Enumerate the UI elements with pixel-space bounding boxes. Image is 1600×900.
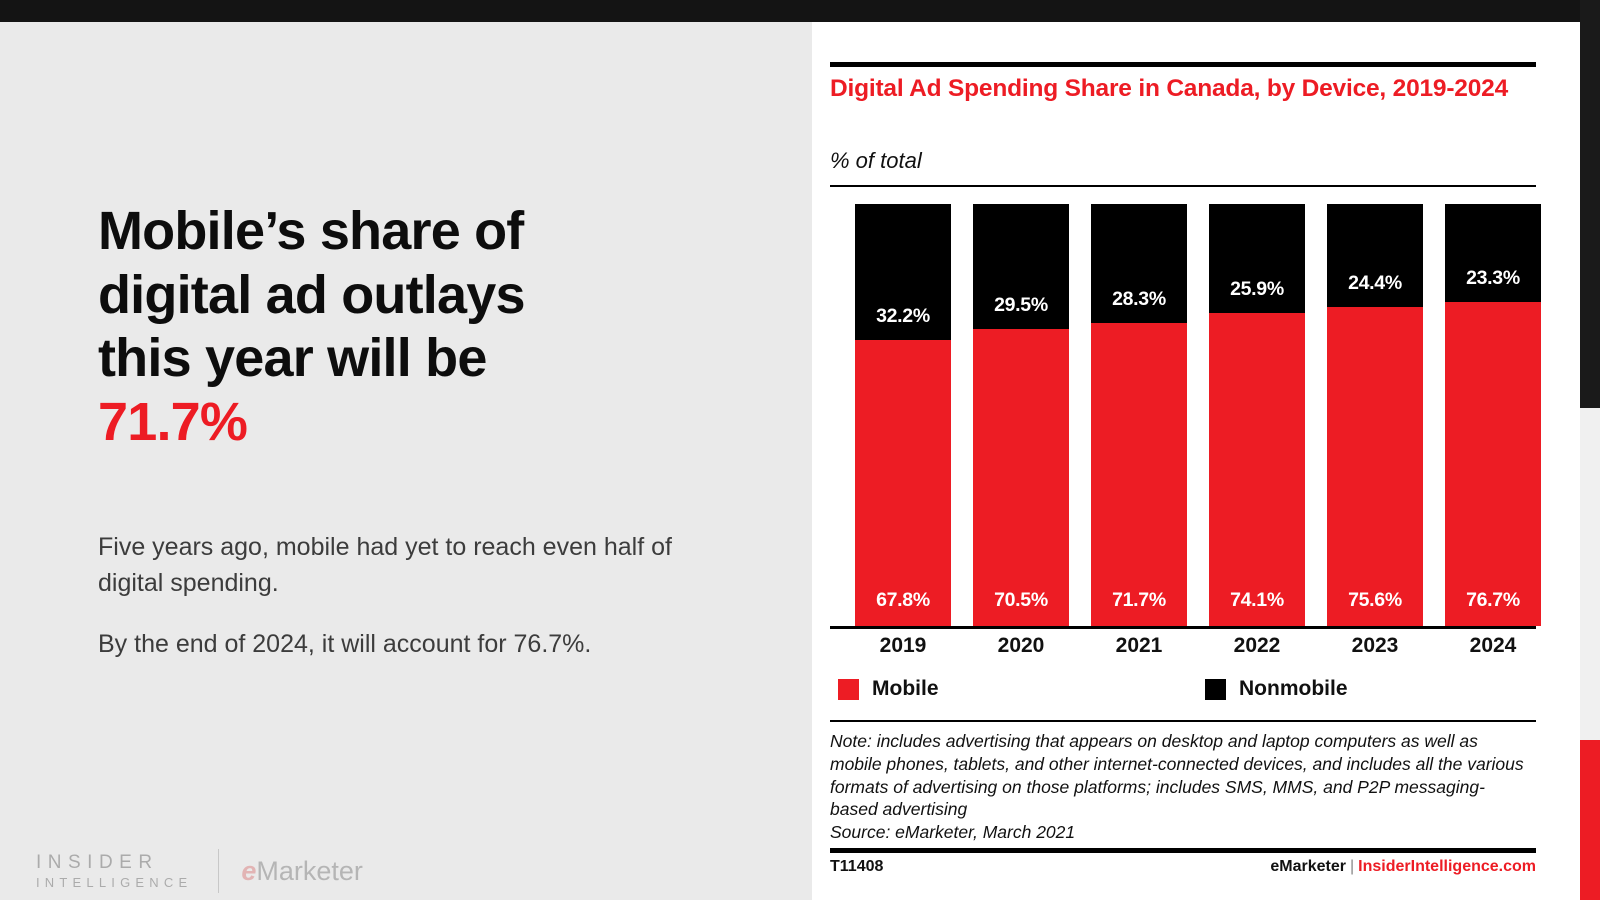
x-axis-tick-label: 2022 bbox=[1209, 634, 1305, 658]
bar-value-label-mobile: 75.6% bbox=[1348, 589, 1402, 612]
chart-header-rule bbox=[830, 185, 1536, 187]
bar-segment-mobile: 70.5% bbox=[973, 329, 1069, 627]
headline-line-1: Mobile’s share of bbox=[98, 201, 524, 261]
legend-label: Nonmobile bbox=[1239, 677, 1348, 701]
chart-footer-brand: eMarketer|InsiderIntelligence.com bbox=[1270, 858, 1536, 876]
chart-notes: Note: includes advertising that appears … bbox=[830, 730, 1530, 844]
legend-item[interactable]: Mobile bbox=[838, 677, 939, 701]
chart-title: Digital Ad Spending Share in Canada, by … bbox=[830, 74, 1530, 105]
chart-subtitle: % of total bbox=[830, 148, 922, 174]
legend-item[interactable]: Nonmobile bbox=[1205, 677, 1348, 701]
bar-segment-mobile: 75.6% bbox=[1327, 307, 1423, 626]
footer-brand-site: InsiderIntelligence.com bbox=[1358, 858, 1536, 875]
chart-top-rule bbox=[830, 62, 1536, 67]
insider-intelligence-logo: INSIDER INTELLIGENCE bbox=[36, 851, 192, 891]
bar-value-label-nonmobile: 24.4% bbox=[1348, 272, 1402, 295]
bar-value-label-nonmobile: 23.3% bbox=[1466, 267, 1520, 290]
chart-source-text: Source: eMarketer, March 2021 bbox=[830, 821, 1530, 844]
chart-footer-id: T11408 bbox=[830, 858, 883, 876]
body-paragraph-2: By the end of 2024, it will account for … bbox=[98, 627, 708, 663]
insider-logo-line-2: INTELLIGENCE bbox=[36, 875, 192, 891]
bar-segment-mobile: 67.8% bbox=[855, 340, 951, 626]
bar-group: 32.2%67.8% bbox=[855, 204, 951, 626]
bar-segment-nonmobile: 29.5% bbox=[973, 204, 1069, 328]
brand-divider bbox=[218, 849, 219, 893]
chart-note-text: Note: includes advertising that appears … bbox=[830, 731, 1524, 819]
emarketer-logo-e: e bbox=[241, 856, 256, 886]
bar-value-label-nonmobile: 29.5% bbox=[994, 294, 1048, 317]
bar-segment-mobile: 76.7% bbox=[1445, 302, 1541, 626]
right-decorative-strip-red bbox=[1580, 740, 1600, 900]
bar-group: 28.3%71.7% bbox=[1091, 204, 1187, 626]
bar-group: 23.3%76.7% bbox=[1445, 204, 1541, 626]
footer-brand-divider: | bbox=[1350, 858, 1354, 875]
x-axis-tick-label: 2023 bbox=[1327, 634, 1423, 658]
chart-notes-rule bbox=[830, 720, 1536, 722]
bar-value-label-mobile: 71.7% bbox=[1112, 589, 1166, 612]
infographic-stage: Mobile’s share of digital ad outlays thi… bbox=[0, 0, 1600, 900]
bar-group: 25.9%74.1% bbox=[1209, 204, 1305, 626]
bar-value-label-nonmobile: 28.3% bbox=[1112, 288, 1166, 311]
x-axis-tick-label: 2020 bbox=[973, 634, 1069, 658]
emarketer-logo: eMarketer bbox=[241, 856, 363, 887]
body-copy: Five years ago, mobile had yet to reach … bbox=[98, 530, 708, 663]
legend-swatch-icon bbox=[1205, 679, 1226, 700]
bar-segment-mobile: 74.1% bbox=[1209, 313, 1305, 626]
chart-legend: MobileNonmobile bbox=[830, 677, 1536, 707]
x-axis-tick-label: 2019 bbox=[855, 634, 951, 658]
legend-label: Mobile bbox=[872, 677, 939, 701]
bar-group: 29.5%70.5% bbox=[973, 204, 1069, 626]
chart-panel: Digital Ad Spending Share in Canada, by … bbox=[812, 22, 1580, 900]
insider-logo-line-1: INSIDER bbox=[36, 851, 192, 875]
headline-line-3: this year will be bbox=[98, 328, 487, 388]
emarketer-logo-rest: Marketer bbox=[256, 856, 363, 886]
bar-segment-mobile: 71.7% bbox=[1091, 323, 1187, 626]
bar-value-label-mobile: 70.5% bbox=[994, 589, 1048, 612]
headline-accent-value: 71.7% bbox=[98, 392, 247, 452]
bar-value-label-nonmobile: 32.2% bbox=[876, 305, 930, 328]
body-paragraph-1: Five years ago, mobile had yet to reach … bbox=[98, 530, 708, 601]
brand-lockup: INSIDER INTELLIGENCE eMarketer bbox=[36, 844, 363, 898]
chart-x-axis-line bbox=[830, 626, 1536, 629]
chart-x-axis-labels: 201920202021202220232024 bbox=[830, 634, 1536, 664]
bar-segment-nonmobile: 32.2% bbox=[855, 204, 951, 340]
chart-footer-rule bbox=[830, 848, 1536, 853]
bar-value-label-mobile: 67.8% bbox=[876, 589, 930, 612]
bar-segment-nonmobile: 23.3% bbox=[1445, 204, 1541, 302]
bar-value-label-mobile: 76.7% bbox=[1466, 589, 1520, 612]
footer-brand-emarketer: eMarketer bbox=[1270, 858, 1346, 875]
top-decorative-bar bbox=[0, 0, 1600, 22]
left-summary-panel: Mobile’s share of digital ad outlays thi… bbox=[0, 22, 812, 900]
headline-line-2: digital ad outlays bbox=[98, 265, 525, 325]
bar-value-label-nonmobile: 25.9% bbox=[1230, 278, 1284, 301]
chart-plot-area: 32.2%67.8%29.5%70.5%28.3%71.7%25.9%74.1%… bbox=[830, 204, 1536, 629]
bar-group: 24.4%75.6% bbox=[1327, 204, 1423, 626]
bar-segment-nonmobile: 24.4% bbox=[1327, 204, 1423, 307]
bar-value-label-mobile: 74.1% bbox=[1230, 589, 1284, 612]
bar-segment-nonmobile: 25.9% bbox=[1209, 204, 1305, 313]
headline: Mobile’s share of digital ad outlays thi… bbox=[98, 200, 738, 455]
x-axis-tick-label: 2024 bbox=[1445, 634, 1541, 658]
x-axis-tick-label: 2021 bbox=[1091, 634, 1187, 658]
bar-segment-nonmobile: 28.3% bbox=[1091, 204, 1187, 323]
legend-swatch-icon bbox=[838, 679, 859, 700]
right-decorative-strip-dark bbox=[1580, 0, 1600, 408]
